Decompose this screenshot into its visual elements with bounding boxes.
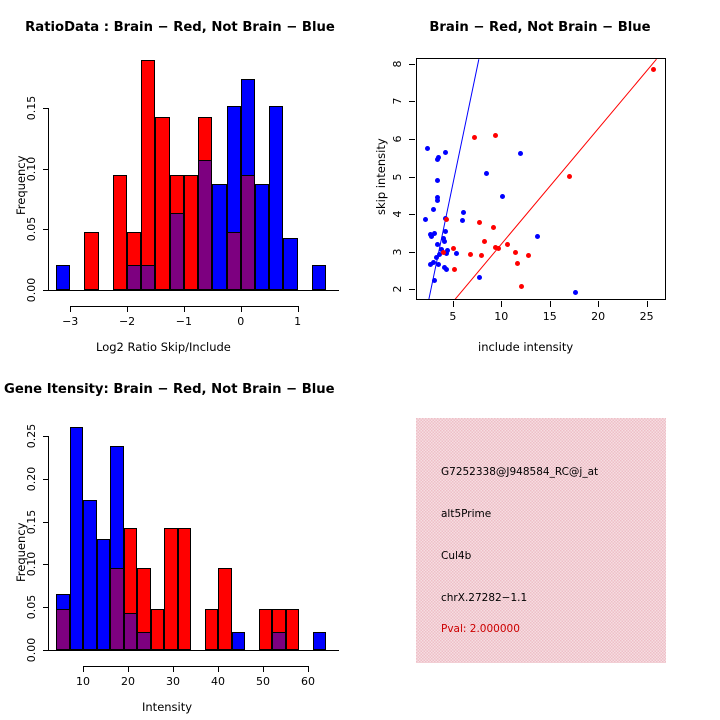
x-tick-mark bbox=[550, 301, 551, 307]
scatter-point-not-brain bbox=[429, 234, 434, 239]
x-tick-label: 20 bbox=[121, 675, 135, 688]
histogram-bar-overlap bbox=[56, 609, 70, 650]
histogram-bar-brain bbox=[259, 609, 273, 650]
y-tick-label: 0.20 bbox=[25, 466, 38, 491]
x-tick-mark bbox=[218, 666, 219, 672]
scatter-point-brain bbox=[505, 242, 510, 247]
scatter-point-brain bbox=[468, 252, 473, 257]
histogram-baseline bbox=[47, 290, 339, 291]
histogram-bar-overlap bbox=[198, 160, 212, 290]
ratio-histogram-title: RatioData : Brain − Red, Not Brain − Blu… bbox=[0, 20, 360, 35]
y-tick-mark bbox=[409, 252, 415, 253]
scatter-point-not-brain bbox=[435, 178, 440, 183]
scatter-point-brain bbox=[496, 246, 501, 251]
scatter-point-not-brain bbox=[535, 234, 540, 239]
histogram-bar-brain bbox=[84, 232, 98, 290]
x-tick-label: 10 bbox=[76, 675, 90, 688]
x-tick-label: 50 bbox=[256, 675, 270, 688]
x-tick-label: 30 bbox=[166, 675, 180, 688]
histogram-bar-brain bbox=[178, 528, 192, 650]
gene-histogram-title: Gene Itensity: Brain − Red, Not Brain − … bbox=[4, 382, 360, 397]
y-tick-label: 0.10 bbox=[25, 552, 38, 577]
y-tick-label: 6 bbox=[391, 135, 404, 142]
scatter-point-not-brain bbox=[461, 210, 466, 215]
scatter-point-brain bbox=[519, 284, 524, 289]
histogram-bar-brain bbox=[164, 528, 178, 650]
x-tick-label: 10 bbox=[494, 310, 508, 323]
scatter-point-not-brain bbox=[443, 229, 448, 234]
scatter-brain-fit bbox=[453, 59, 657, 300]
y-tick-label: 0.00 bbox=[25, 638, 38, 663]
x-tick-label: 1 bbox=[294, 315, 301, 328]
scatter-title: Brain − Red, Not Brain − Blue bbox=[360, 20, 720, 35]
histogram-baseline bbox=[47, 650, 339, 651]
y-tick-label: 4 bbox=[391, 211, 404, 218]
y-tick-mark bbox=[43, 564, 49, 565]
info-panel-background: G7252338@J948584_RC@j_at alt5Prime Cul4b… bbox=[416, 418, 666, 663]
scatter-point-not-brain bbox=[460, 218, 465, 223]
scatter-point-brain bbox=[444, 217, 449, 222]
y-tick-label: 8 bbox=[391, 60, 404, 67]
histogram-bar-not-brain bbox=[313, 632, 327, 650]
x-tick-mark bbox=[127, 306, 128, 312]
y-tick-mark bbox=[43, 169, 49, 170]
x-tick-mark bbox=[241, 306, 242, 312]
y-tick-label: 0.10 bbox=[25, 157, 38, 182]
x-tick-mark bbox=[263, 666, 264, 672]
locus-text: chrX.27282−1.1 bbox=[441, 592, 527, 604]
x-tick-mark bbox=[184, 306, 185, 312]
panel-info: G7252338@J948584_RC@j_at alt5Prime Cul4b… bbox=[360, 360, 720, 720]
x-tick-label: −2 bbox=[119, 315, 135, 328]
y-tick-mark bbox=[409, 101, 415, 102]
scatter-point-not-brain bbox=[477, 275, 482, 280]
scatter-xlabel: include intensity bbox=[478, 340, 573, 354]
histogram-bar-overlap bbox=[127, 265, 141, 290]
scatter-point-brain bbox=[567, 174, 572, 179]
ratio-histogram-xlabel: Log2 Ratio Skip/Include bbox=[96, 340, 231, 354]
scatter-point-not-brain bbox=[436, 155, 441, 160]
histogram-bar-overlap bbox=[241, 175, 255, 290]
scatter-point-not-brain bbox=[444, 267, 449, 272]
scatter-point-brain bbox=[651, 67, 656, 72]
scatter-point-not-brain bbox=[432, 278, 437, 283]
scatter-point-not-brain bbox=[428, 262, 433, 267]
scatter-point-not-brain bbox=[518, 151, 523, 156]
histogram-bar-not-brain bbox=[232, 632, 246, 650]
histogram-bar-overlap bbox=[137, 632, 151, 650]
scatter-point-not-brain bbox=[500, 194, 505, 199]
x-tick-mark bbox=[128, 666, 129, 672]
probe-id-text: G7252338@J948584_RC@j_at bbox=[441, 466, 598, 478]
panel-gene-intensity-histogram: Gene Itensity: Brain − Red, Not Brain − … bbox=[0, 360, 360, 720]
scatter-point-not-brain bbox=[436, 262, 441, 267]
scatter-point-brain bbox=[441, 250, 446, 255]
x-tick-label: 40 bbox=[211, 675, 225, 688]
x-tick-mark bbox=[598, 301, 599, 307]
histogram-bar-overlap bbox=[170, 213, 184, 290]
scatter-point-not-brain bbox=[431, 207, 436, 212]
x-tick-mark bbox=[453, 301, 454, 307]
gene-histogram-plot-area bbox=[56, 423, 326, 650]
y-tick-label: 0.25 bbox=[25, 424, 38, 449]
y-tick-mark bbox=[409, 139, 415, 140]
x-tick-label: 15 bbox=[543, 310, 557, 323]
y-tick-mark bbox=[43, 522, 49, 523]
x-tick-label: 0 bbox=[237, 315, 244, 328]
x-tick-mark bbox=[308, 666, 309, 672]
y-tick-mark bbox=[409, 214, 415, 215]
scatter-point-not-brain bbox=[573, 290, 578, 295]
histogram-bar-not-brain bbox=[269, 106, 283, 290]
scatter-plot-frame bbox=[416, 58, 666, 300]
scatter-ylabel: skip intensity bbox=[374, 138, 388, 215]
scatter-point-not-brain bbox=[484, 171, 489, 176]
histogram-bar-not-brain bbox=[83, 500, 97, 650]
scatter-point-not-brain bbox=[443, 150, 448, 155]
event-type-text: alt5Prime bbox=[441, 508, 491, 520]
y-axis-line bbox=[48, 108, 49, 290]
histogram-bar-brain bbox=[141, 60, 155, 290]
y-tick-mark bbox=[409, 289, 415, 290]
x-axis-line bbox=[83, 666, 308, 667]
scatter-point-brain bbox=[513, 250, 518, 255]
y-tick-mark bbox=[43, 108, 49, 109]
y-tick-label: 0.05 bbox=[25, 217, 38, 242]
panel-intensity-scatter: Brain − Red, Not Brain − Blue skip inten… bbox=[360, 0, 720, 360]
histogram-bar-overlap bbox=[110, 568, 124, 650]
x-tick-mark bbox=[83, 666, 84, 672]
histogram-bar-not-brain bbox=[97, 539, 111, 650]
y-tick-mark bbox=[409, 177, 415, 178]
y-tick-mark bbox=[43, 479, 49, 480]
scatter-point-not-brain bbox=[434, 255, 439, 260]
scatter-point-brain bbox=[493, 133, 498, 138]
histogram-bar-not-brain bbox=[212, 184, 226, 290]
scatter-point-brain bbox=[515, 261, 520, 266]
histogram-bar-brain bbox=[218, 568, 232, 650]
pval-text: Pval: 2.000000 bbox=[441, 623, 520, 635]
scatter-point-brain bbox=[452, 267, 457, 272]
scatter-point-brain bbox=[479, 253, 484, 258]
y-tick-mark bbox=[43, 229, 49, 230]
ratio-histogram-plot-area bbox=[56, 60, 326, 290]
scatter-point-brain bbox=[491, 225, 496, 230]
y-tick-label: 0.00 bbox=[25, 278, 38, 303]
histogram-bar-brain bbox=[113, 175, 127, 290]
scatter-point-brain bbox=[482, 239, 487, 244]
histogram-bar-brain bbox=[286, 609, 300, 650]
histogram-bar-brain bbox=[184, 175, 198, 290]
y-tick-label: 3 bbox=[391, 248, 404, 255]
y-tick-label: 5 bbox=[391, 173, 404, 180]
histogram-bar-overlap bbox=[227, 232, 241, 290]
histogram-bar-brain bbox=[151, 609, 165, 650]
gene-histogram-xlabel: Intensity bbox=[142, 700, 192, 714]
histogram-bar-not-brain bbox=[56, 265, 70, 290]
y-tick-label: 0.05 bbox=[25, 595, 38, 620]
histogram-bar-brain bbox=[155, 117, 169, 290]
histogram-bar-not-brain bbox=[283, 238, 297, 290]
scatter-point-not-brain bbox=[425, 146, 430, 151]
y-tick-mark bbox=[43, 607, 49, 608]
scatter-point-not-brain bbox=[442, 239, 447, 244]
panel-ratio-histogram: RatioData : Brain − Red, Not Brain − Blu… bbox=[0, 0, 360, 360]
x-tick-label: 5 bbox=[449, 310, 456, 323]
x-tick-mark bbox=[70, 306, 71, 312]
y-tick-mark bbox=[43, 436, 49, 437]
x-tick-mark bbox=[173, 666, 174, 672]
x-tick-label: 20 bbox=[591, 310, 605, 323]
histogram-bar-overlap bbox=[141, 265, 155, 290]
x-tick-mark bbox=[647, 301, 648, 307]
histogram-bar-brain bbox=[205, 609, 219, 650]
scatter-point-not-brain bbox=[454, 251, 459, 256]
scatter-point-brain bbox=[526, 253, 531, 258]
x-tick-label: 60 bbox=[301, 675, 315, 688]
x-tick-label: −1 bbox=[176, 315, 192, 328]
y-tick-label: 0.15 bbox=[25, 96, 38, 121]
x-tick-label: 25 bbox=[640, 310, 654, 323]
y-tick-mark bbox=[409, 64, 415, 65]
histogram-bar-not-brain bbox=[312, 265, 326, 290]
y-axis-line bbox=[48, 436, 49, 650]
x-tick-label: −3 bbox=[62, 315, 78, 328]
y-tick-label: 0.15 bbox=[25, 509, 38, 534]
x-tick-mark bbox=[298, 306, 299, 312]
scatter-point-not-brain bbox=[435, 198, 440, 203]
scatter-point-not-brain bbox=[423, 217, 428, 222]
y-tick-label: 7 bbox=[391, 98, 404, 105]
scatter-point-not-brain bbox=[435, 242, 440, 247]
histogram-bar-overlap bbox=[272, 632, 286, 650]
histogram-bar-not-brain bbox=[255, 184, 269, 290]
scatter-point-brain bbox=[472, 135, 477, 140]
y-tick-label: 2 bbox=[391, 286, 404, 293]
histogram-bar-overlap bbox=[124, 613, 138, 650]
histogram-bar-not-brain bbox=[70, 427, 84, 650]
figure-canvas: RatioData : Brain − Red, Not Brain − Blu… bbox=[0, 0, 720, 720]
x-tick-mark bbox=[501, 301, 502, 307]
gene-symbol-text: Cul4b bbox=[441, 550, 471, 562]
scatter-point-brain bbox=[477, 220, 482, 225]
